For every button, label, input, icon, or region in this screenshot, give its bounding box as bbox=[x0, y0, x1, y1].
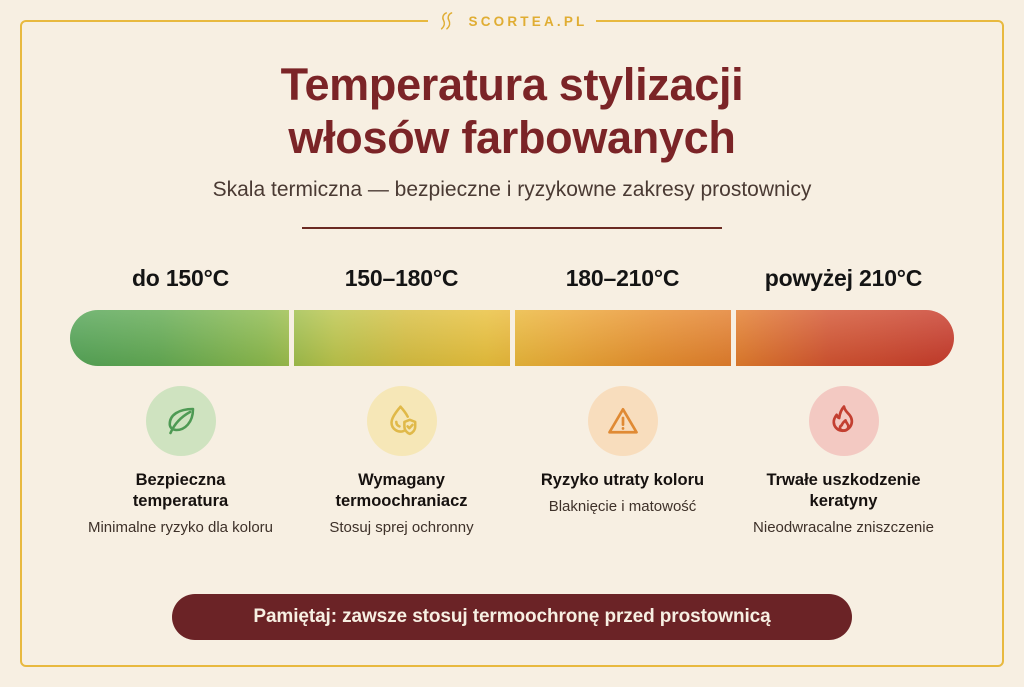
infographic-poster: SCORTEA.PL Temperatura stylizacji włosów… bbox=[0, 0, 1024, 687]
bar-separator bbox=[510, 310, 515, 366]
brand-name: SCORTEA.PL bbox=[468, 14, 587, 29]
range-label-row: do 150°C 150–180°C 180–210°C powyżej 210… bbox=[70, 265, 954, 292]
temperature-gradient-bar bbox=[70, 310, 954, 366]
brand-rule-right bbox=[608, 20, 650, 22]
droplet-shield-check-icon bbox=[367, 386, 437, 456]
risk-card-protectant: Wymagany termoochraniacz Stosuj sprej oc… bbox=[291, 386, 512, 537]
brand-bar: SCORTEA.PL bbox=[0, 8, 1024, 34]
page-title-line-1: Temperatura stylizacji bbox=[0, 58, 1024, 111]
footer-reminder-text: Pamiętaj: zawsze stosuj termoochronę prz… bbox=[253, 606, 770, 628]
bar-separator bbox=[731, 310, 736, 366]
page-title: Temperatura stylizacji włosów farbowanyc… bbox=[0, 58, 1024, 164]
card-title: Wymagany termoochraniacz bbox=[312, 470, 492, 512]
flame-icon bbox=[809, 386, 879, 456]
scortea-wave-logo-icon bbox=[436, 10, 458, 32]
card-description: Blaknięcie i matowość bbox=[549, 498, 697, 517]
bar-separator bbox=[289, 310, 294, 366]
warning-triangle-icon bbox=[588, 386, 658, 456]
card-title: Ryzyko utraty koloru bbox=[541, 470, 704, 491]
footer-reminder-banner: Pamiętaj: zawsze stosuj termoochronę prz… bbox=[172, 594, 852, 640]
header-divider bbox=[302, 227, 722, 229]
brand-lockup: SCORTEA.PL bbox=[428, 10, 595, 32]
page-title-line-2: włosów farbowanych bbox=[0, 111, 1024, 164]
card-title: Bezpieczna temperatura bbox=[91, 470, 271, 512]
card-description: Nieodwracalne zniszczenie bbox=[753, 519, 934, 538]
risk-card-safe: Bezpieczna temperatura Minimalne ryzyko … bbox=[70, 386, 291, 537]
range-label: 150–180°C bbox=[291, 265, 512, 292]
card-description: Minimalne ryzyko dla koloru bbox=[88, 519, 273, 538]
risk-card-row: Bezpieczna temperatura Minimalne ryzyko … bbox=[70, 386, 954, 537]
range-label: 180–210°C bbox=[512, 265, 733, 292]
range-label: do 150°C bbox=[70, 265, 291, 292]
leaf-icon bbox=[146, 386, 216, 456]
range-label: powyżej 210°C bbox=[733, 265, 954, 292]
risk-card-color-loss: Ryzyko utraty koloru Blaknięcie i matowo… bbox=[512, 386, 733, 537]
page-subtitle: Skala termiczna — bezpieczne i ryzykowne… bbox=[0, 178, 1024, 202]
brand-rule-left bbox=[374, 20, 416, 22]
card-title: Trwałe uszkodzenie keratyny bbox=[754, 470, 934, 512]
card-description: Stosuj sprej ochronny bbox=[329, 519, 473, 538]
risk-card-damage: Trwałe uszkodzenie keratyny Nieodwracaln… bbox=[733, 386, 954, 537]
